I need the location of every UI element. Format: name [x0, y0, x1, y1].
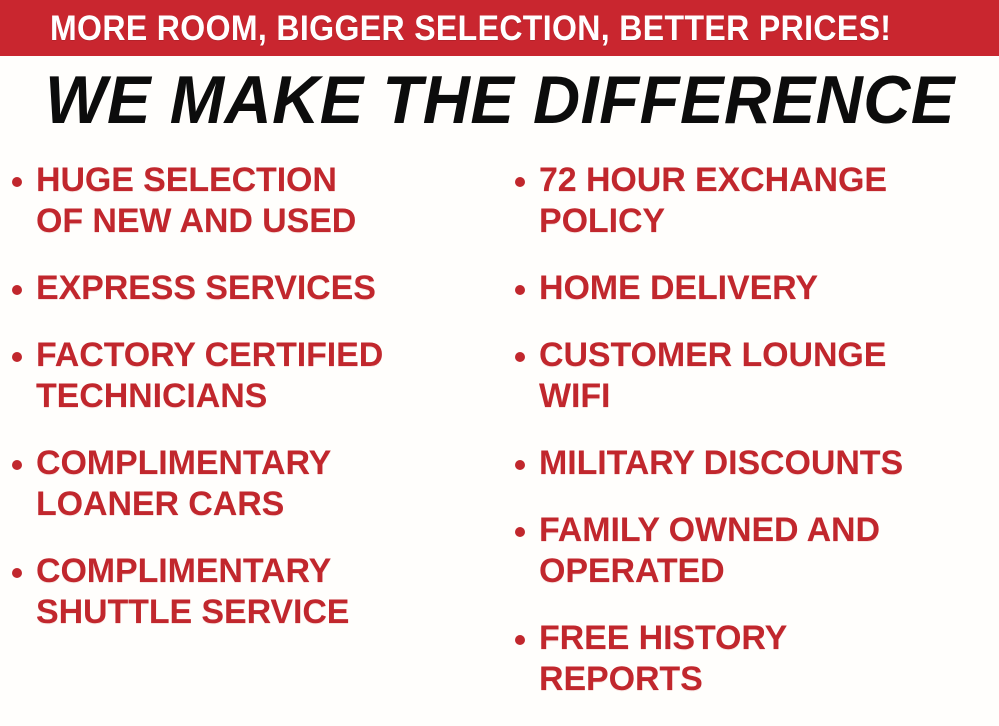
- benefit-item-label: COMPLIMENTARYLOANER CARS: [36, 443, 331, 525]
- promo-banner-text: MORE ROOM, BIGGER SELECTION, BETTER PRIC…: [50, 11, 891, 46]
- benefit-item-label: CUSTOMER LOUNGEWIFI: [539, 335, 886, 417]
- benefit-item: 72 HOUR EXCHANGEPOLICY: [515, 160, 999, 242]
- benefit-item: HUGE SELECTIONOF NEW AND USED: [12, 160, 504, 242]
- bullet-dot-icon: [12, 285, 22, 295]
- bullet-dot-icon: [12, 352, 22, 362]
- bullet-dot-icon: [515, 352, 525, 362]
- benefit-item-label: HOME DELIVERY: [539, 268, 818, 309]
- benefit-item: FREE HISTORYREPORTS: [515, 618, 999, 700]
- benefit-item-label: FACTORY CERTIFIEDTECHNICIANS: [36, 335, 383, 417]
- benefit-item: FACTORY CERTIFIEDTECHNICIANS: [12, 335, 504, 417]
- benefit-item: EXPRESS SERVICES: [12, 268, 504, 309]
- bullet-dot-icon: [515, 285, 525, 295]
- benefit-item-label: COMPLIMENTARYSHUTTLE SERVICE: [36, 551, 349, 633]
- headline: WE MAKE THE DIFFERENCE: [0, 64, 999, 136]
- benefit-item-label: EXPRESS SERVICES: [36, 268, 376, 309]
- benefits-section: HUGE SELECTIONOF NEW AND USEDEXPRESS SER…: [0, 160, 999, 692]
- benefit-item-label: FREE HISTORYREPORTS: [539, 618, 787, 700]
- bullet-dot-icon: [515, 177, 525, 187]
- benefit-item-label: MILITARY DISCOUNTS: [539, 443, 903, 484]
- bullet-dot-icon: [12, 460, 22, 470]
- benefit-item: COMPLIMENTARYSHUTTLE SERVICE: [12, 551, 504, 633]
- benefit-item: COMPLIMENTARYLOANER CARS: [12, 443, 504, 525]
- benefit-item-label: HUGE SELECTIONOF NEW AND USED: [36, 160, 356, 242]
- bullet-dot-icon: [515, 527, 525, 537]
- benefit-item: CUSTOMER LOUNGEWIFI: [515, 335, 999, 417]
- benefit-item-label: FAMILY OWNED ANDOPERATED: [539, 510, 880, 592]
- bullet-dot-icon: [515, 460, 525, 470]
- benefit-item: MILITARY DISCOUNTS: [515, 443, 999, 484]
- benefits-column-left: HUGE SELECTIONOF NEW AND USEDEXPRESS SER…: [12, 160, 504, 659]
- promo-banner: MORE ROOM, BIGGER SELECTION, BETTER PRIC…: [0, 0, 999, 56]
- benefits-column-right: 72 HOUR EXCHANGEPOLICYHOME DELIVERYCUSTO…: [515, 160, 999, 726]
- bullet-dot-icon: [12, 177, 22, 187]
- benefit-item-label: 72 HOUR EXCHANGEPOLICY: [539, 160, 887, 242]
- benefit-item: FAMILY OWNED ANDOPERATED: [515, 510, 999, 592]
- bullet-dot-icon: [515, 635, 525, 645]
- benefit-item: HOME DELIVERY: [515, 268, 999, 309]
- bullet-dot-icon: [12, 568, 22, 578]
- headline-text: WE MAKE THE DIFFERENCE: [45, 64, 955, 136]
